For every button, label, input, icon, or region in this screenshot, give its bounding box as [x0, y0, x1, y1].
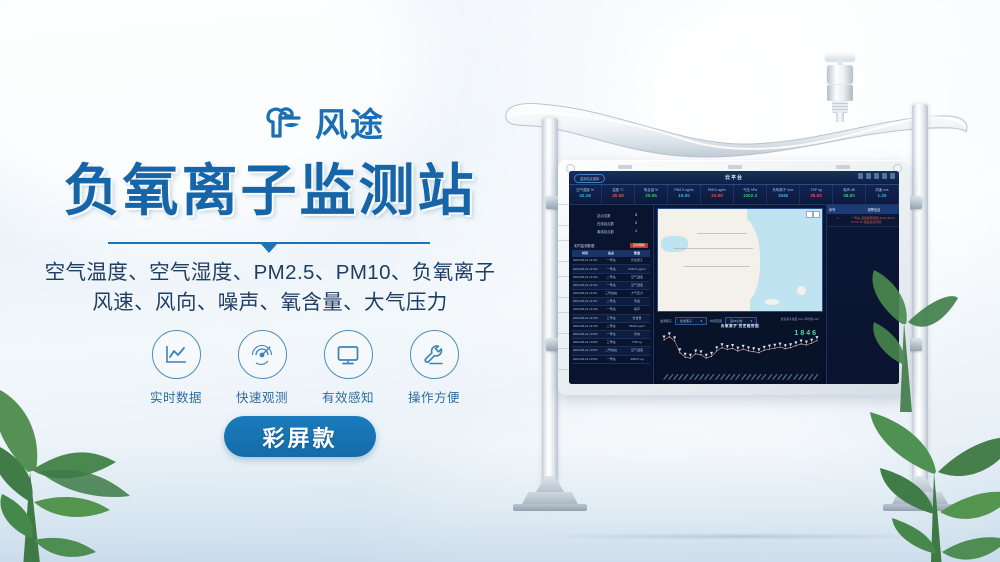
chart-plot-area [662, 332, 819, 370]
header-icon[interactable] [890, 173, 895, 179]
feature-item-easy-operation[interactable]: 操作方便 [398, 330, 470, 406]
table-row[interactable]: 2023-08-21 10:59:52三号站TSP ug [572, 339, 650, 347]
table-row[interactable]: 2023-08-21 11:00:32一号站负氧离子 [572, 257, 650, 265]
table-cell: 一号站 [598, 265, 624, 273]
table-cell: 风速 [624, 298, 650, 306]
map-border-line-1 [674, 248, 753, 249]
table-header-cell: 时间 [572, 250, 598, 257]
table-cell: 二号站 [598, 274, 624, 282]
display-frame: 监测站点选择 云平台 空气湿度 %42.16温度 ℃30.58氧含量 %20.9… [558, 160, 910, 395]
table-cell: 2023-08-21 10:59:44 [572, 356, 598, 364]
subtitle: 空气温度、空气湿度、PM2.5、PM10、负氧离子 风速、风向、噪声、氧含量、大… [0, 258, 540, 317]
map-lake [661, 236, 687, 252]
alarm-col-message: 报警信息 [849, 205, 899, 214]
feature-item-effective-sensing[interactable]: 有效感知 [312, 330, 384, 406]
title-divider [108, 238, 430, 252]
table-cell: 一号站 [598, 331, 624, 339]
alarm-table-header: 序号 报警信息 [827, 205, 899, 214]
cta-button[interactable]: 彩屏款 [224, 416, 376, 457]
metric-label: PM2.5 ug/m³ [668, 188, 700, 192]
stat-label: 在线站点数 [597, 221, 614, 226]
table-cell: 负氧离子 [624, 257, 650, 265]
metric-card[interactable]: 温度 ℃30.58 [602, 185, 635, 204]
ultrasonic-weather-sensor [822, 52, 858, 118]
table-row[interactable]: 2023-08-21 11:00:16三号站站大气压力 [572, 290, 650, 298]
table-cell: 三号站 [598, 339, 624, 347]
alarm-list[interactable]: 1一号站 温度超限报警 2023-08-21 10:52:13 温度超过阈值 [827, 214, 899, 227]
table-cell: 2023-08-21 11:00:04 [572, 315, 598, 323]
station-map[interactable] [657, 208, 823, 312]
realtime-table-title: 实时监测数据 [574, 243, 594, 248]
metric-label: PM10 ug/m³ [701, 188, 733, 192]
metric-card[interactable]: 氧含量 %20.95 [635, 185, 668, 204]
wave-canopy [500, 88, 970, 160]
sensor-body-upper [827, 65, 853, 84]
metric-card[interactable]: 风速 m/s1.20 [866, 185, 899, 204]
table-cell: 一号站 [598, 257, 624, 265]
alarm-row[interactable]: 1一号站 温度超限报警 2023-08-21 10:52:13 温度超过阈值 [827, 214, 899, 227]
metric-label: 氧含量 % [635, 188, 667, 192]
metric-label: TSP ug [800, 188, 832, 192]
feature-label: 有效感知 [312, 387, 384, 406]
divider-triangle-icon [261, 244, 277, 253]
table-header-cell: 数值 [624, 250, 650, 257]
chart-legend: 负氧离子浓度 /cm³ 平均值 /cm³ [781, 317, 819, 321]
map-border-line-3 [697, 233, 746, 234]
metric-value: 15.00 [668, 194, 700, 199]
product-illustration: 监测站点选择 云平台 空气湿度 %42.16温度 ℃30.58氧含量 %20.9… [500, 0, 1000, 562]
subtitle-line-1: 空气温度、空气湿度、PM2.5、PM10、负氧离子 [0, 258, 540, 288]
metric-value: 48.50 [833, 194, 865, 199]
table-cell: 2023-08-21 10:59:48 [572, 347, 598, 355]
table-cell: PM10 ug/m³ [624, 323, 650, 331]
table-cell: 2023-08-21 11:00:24 [572, 274, 598, 282]
table-cell: PM2.5 ug [624, 356, 650, 364]
history-chart-panel: 监测因子 负氧离子 ▾ 时间范围 近24小时 ▾ [657, 315, 823, 381]
table-cell: 2023-08-21 11:00:16 [572, 290, 598, 298]
metric-card[interactable]: 负氧离子 /cm³1846 [767, 185, 800, 204]
chart-range-value: 近24小时 [730, 319, 742, 323]
table-cell: 氧含量 [624, 315, 650, 323]
chart-factor-value: 负氧离子 [680, 319, 692, 323]
metric-card[interactable]: TSP ug36.00 [800, 185, 833, 204]
metric-label: 负氧离子 /cm³ [767, 188, 799, 192]
chart-select2-label: 时间范围 [710, 319, 722, 323]
stat-value: 2 [635, 221, 637, 226]
metric-label: 气压 hPa [734, 188, 766, 192]
feature-list: 实时数据 快速观测 [140, 330, 470, 406]
metric-card[interactable]: 气压 hPa1002.3 [734, 185, 767, 204]
table-row[interactable]: 2023-08-21 11:00:00二号站PM10 ug/m³ [572, 323, 650, 331]
metric-value: 1.20 [866, 194, 898, 199]
stat-value: 1 [635, 229, 637, 234]
stat-row: 离线站点数1 [575, 227, 647, 235]
feature-item-fast-observation[interactable]: 快速观测 [226, 330, 298, 406]
stat-row: 站点总数3 [575, 211, 647, 219]
table-cell: 二号站 [598, 323, 624, 331]
frame-tab-2 [728, 165, 742, 169]
chevron-down-icon: ▾ [751, 319, 753, 323]
table-cell: 风向 [624, 331, 650, 339]
monitoring-dashboard: 监测站点选择 云平台 空气湿度 %42.16温度 ℃30.58氧含量 %20.9… [569, 171, 899, 384]
metric-card[interactable]: PM10 ug/m³24.00 [701, 185, 734, 204]
table-cell: 2023-08-21 11:00:28 [572, 265, 598, 273]
metric-card-row: 空气湿度 %42.16温度 ℃30.58氧含量 %20.95PM2.5 ug/m… [569, 185, 899, 205]
table-cell: 大气压力 [624, 290, 650, 298]
stat-value: 3 [635, 213, 637, 218]
realtime-data-table[interactable]: 时间站点数值2023-08-21 11:00:32一号站负氧离子2023-08-… [572, 250, 650, 382]
header-icon[interactable] [874, 173, 879, 179]
left-text-panel: 风途 负氧离子监测站 空气温度、空气湿度、PM2.5、PM10、负氧离子 风速、… [0, 0, 540, 562]
radar-signal-icon [238, 330, 287, 379]
alarm-index: 1 [827, 214, 849, 226]
metric-card[interactable]: 噪声 dB48.50 [833, 185, 866, 204]
table-cell: 空气温度 [624, 347, 650, 355]
realtime-table-header: 实时监测数据 实时刷新 [572, 242, 650, 249]
line-chart-icon [152, 330, 201, 379]
right-column: 序号 报警信息 1一号站 温度超限报警 2023-08-21 10:52:13 … [826, 205, 899, 384]
table-row[interactable]: 2023-08-21 10:59:48二号站站空气温度 [572, 347, 650, 355]
table-cell: 三号站 [598, 315, 624, 323]
table-row[interactable]: 2023-08-21 11:00:12二号站风速 [572, 298, 650, 306]
dashboard-body: 站点总数3在线站点数2离线站点数1 实时监测数据 实时刷新 时间站点数值2023… [569, 205, 899, 384]
table-header-row: 时间站点数值 [572, 250, 650, 257]
metric-card[interactable]: PM2.5 ug/m³15.00 [668, 185, 701, 204]
subtitle-line-2: 风速、风向、噪声、氧含量、大气压力 [0, 288, 540, 318]
table-cell: 二号站站 [598, 347, 624, 355]
metric-value: 1846 [767, 194, 799, 199]
promo-banner: 风途 负氧离子监测站 空气温度、空气湿度、PM2.5、PM10、负氧离子 风速、… [0, 0, 1000, 562]
wrench-icon [410, 330, 459, 379]
brand-name: 风途 [315, 108, 385, 141]
metric-value: 36.00 [800, 194, 832, 199]
pole-base-plate [883, 504, 957, 511]
map-zoom-out-button[interactable] [806, 211, 813, 218]
refresh-button[interactable]: 实时刷新 [630, 243, 648, 248]
table-cell: 2023-08-21 10:59:52 [572, 339, 598, 347]
feature-label: 快速观测 [226, 387, 298, 406]
table-row[interactable]: 2023-08-21 11:00:04三号站氧含量 [572, 315, 650, 323]
table-cell: 空气湿度 [624, 282, 650, 290]
metric-label: 空气湿度 % [569, 188, 601, 192]
header-icon-group[interactable] [858, 173, 895, 179]
page-title: 负氧离子监测站 [0, 160, 540, 223]
support-pole-right [912, 104, 928, 508]
alarm-message: 一号站 温度超限报警 2023-08-21 10:52:13 温度超过阈值 [849, 214, 899, 226]
map-island-2 [765, 299, 780, 305]
table-row[interactable]: 2023-08-21 10:59:44一号站PM2.5 ug [572, 356, 650, 364]
table-row[interactable]: 2023-08-21 11:00:24二号站空气温度 [572, 274, 650, 282]
feature-label: 实时数据 [140, 387, 212, 406]
metric-value: 1002.3 [734, 194, 766, 199]
stat-row: 在线站点数2 [575, 219, 647, 227]
display-screen[interactable]: 监测站点选择 云平台 空气湿度 %42.16温度 ℃30.58氧含量 %20.9… [569, 171, 899, 384]
table-row[interactable]: 2023-08-21 10:59:56一号站风向 [572, 331, 650, 339]
metric-card[interactable]: 空气湿度 %42.16 [569, 185, 602, 204]
metric-value: 20.95 [635, 194, 667, 199]
table-cell: 2023-08-21 10:59:56 [572, 331, 598, 339]
chart-x-axis [662, 370, 819, 380]
map-zoom-in-button[interactable] [813, 211, 820, 218]
header-icon[interactable] [858, 173, 863, 179]
chevron-down-icon: ▾ [701, 319, 703, 323]
frame-tab-3 [836, 165, 850, 169]
dashboard-title: 云平台 [569, 174, 899, 181]
table-cell: 2023-08-21 11:00:08 [572, 306, 598, 314]
dashboard-header: 监测站点选择 云平台 [569, 171, 899, 185]
table-cell: 2023-08-21 11:00:20 [572, 282, 598, 290]
alarm-col-index: 序号 [827, 205, 849, 214]
table-cell: 噪声 [624, 306, 650, 314]
metric-value: 42.16 [569, 194, 601, 199]
table-cell: 空气温度 [624, 274, 650, 282]
table-cell: 二号站 [598, 298, 624, 306]
brand-logo: 风途 [258, 100, 385, 148]
table-row[interactable]: 2023-08-21 11:00:20一号站空气湿度 [572, 282, 650, 290]
cta-label: 彩屏款 [262, 421, 337, 453]
ground-line [540, 535, 940, 538]
table-cell: 2023-08-21 11:00:12 [572, 298, 598, 306]
sensor-stem [836, 112, 844, 122]
header-icon[interactable] [882, 173, 887, 179]
table-cell: 一号站 [598, 356, 624, 364]
metric-value: 24.00 [701, 194, 733, 199]
x-tick-label [813, 374, 818, 380]
stat-label: 站点总数 [597, 213, 611, 218]
metric-label: 噪声 dB [833, 188, 865, 192]
frame-tab-1 [618, 165, 632, 169]
metric-value: 30.58 [602, 194, 634, 199]
center-column: 监测因子 负氧离子 ▾ 时间范围 近24小时 ▾ [654, 205, 826, 384]
cloud-g-leaf-icon [258, 100, 306, 148]
table-cell: 一号站 [598, 282, 624, 290]
chart-select1-label: 监测因子 [660, 319, 672, 323]
table-row[interactable]: 2023-08-21 11:00:08一号站噪声 [572, 306, 650, 314]
map-island-1 [797, 286, 805, 295]
chart-title: 负氧离子 历史趋势图 [657, 324, 823, 329]
table-cell: 2023-08-21 11:00:32 [572, 257, 598, 265]
stat-label: 离线站点数 [597, 229, 614, 234]
left-column: 站点总数3在线站点数2离线站点数1 实时监测数据 实时刷新 时间站点数值2023… [569, 205, 654, 384]
history-line-chart [662, 332, 819, 370]
table-cell: 一号站 [598, 306, 624, 314]
table-cell: 2023-08-21 11:00:00 [572, 323, 598, 331]
feature-item-realtime-data[interactable]: 实时数据 [140, 330, 212, 406]
map-border-line-2 [684, 266, 750, 267]
table-cell: TSP ug [624, 339, 650, 347]
table-header-cell: 站点 [598, 250, 624, 257]
table-row[interactable]: 2023-08-21 11:00:28一号站PM2.5 ug/m³ [572, 265, 650, 273]
pole-base-plate [513, 504, 587, 511]
table-cell: PM2.5 ug/m³ [624, 265, 650, 273]
sensor-body-lower [827, 85, 853, 101]
metric-label: 温度 ℃ [602, 188, 634, 192]
feature-label: 操作方便 [398, 387, 470, 406]
metric-label: 风速 m/s [866, 188, 898, 192]
station-stats: 站点总数3在线站点数2离线站点数1 [569, 205, 653, 240]
table-cell: 三号站站 [598, 290, 624, 298]
monitor-icon [324, 330, 373, 379]
header-icon[interactable] [866, 173, 871, 179]
